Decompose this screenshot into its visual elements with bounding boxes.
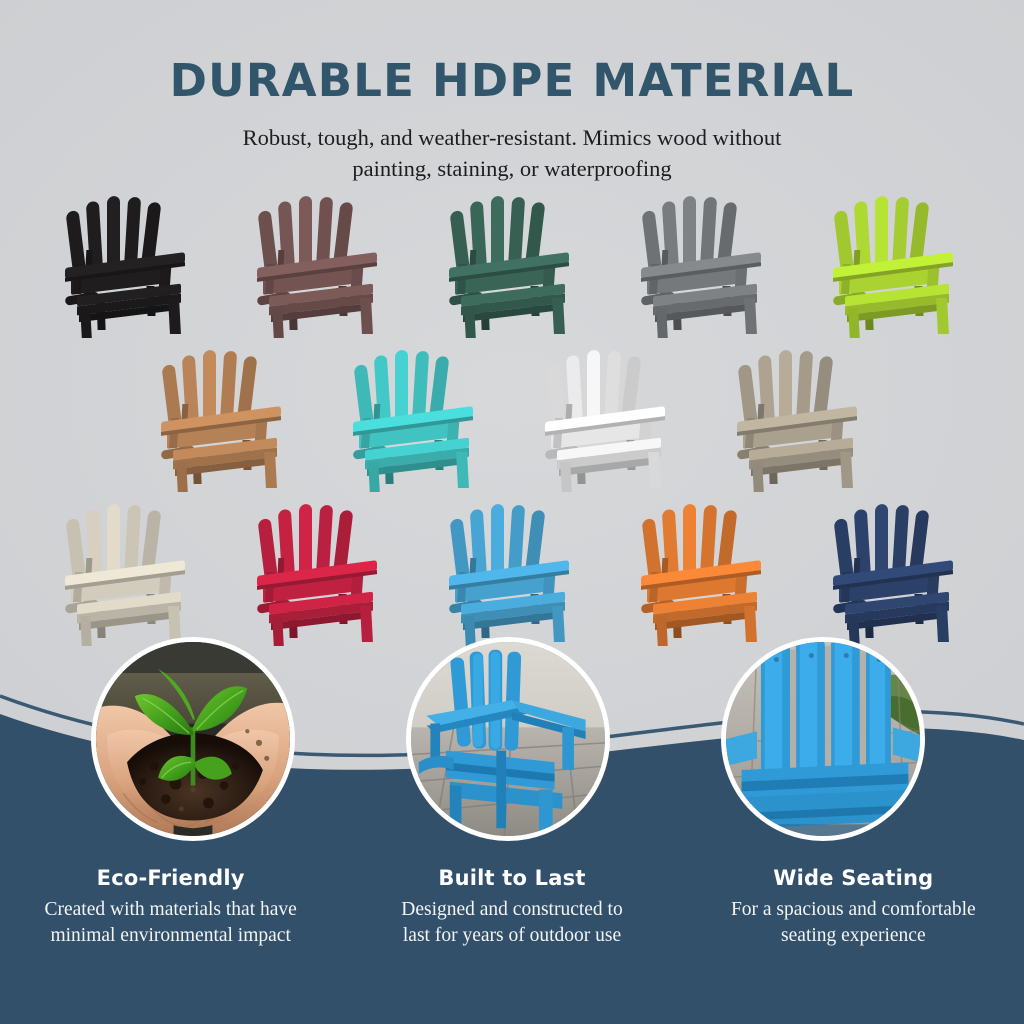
feature-built-to-last: Built to Last Designed and constructed t…	[341, 866, 682, 949]
feature-eco-friendly: Eco-Friendly Created with materials that…	[0, 866, 341, 949]
hands-holding-seedling-photo	[96, 642, 290, 836]
feature-image-wide-seating	[721, 637, 925, 841]
feature-title: Built to Last	[349, 866, 674, 890]
feature-desc-line-2: minimal environmental impact	[8, 923, 333, 949]
feature-image-built-to-last	[406, 637, 610, 841]
feature-title: Wide Seating	[691, 866, 1016, 890]
blue-chair-wide-seat-closeup-photo	[726, 642, 920, 836]
feature-description: Created with materials that have minimal…	[8, 897, 333, 949]
feature-desc-line-1: For a spacious and comfortable	[691, 897, 1016, 923]
feature-desc-line-2: last for years of outdoor use	[349, 923, 674, 949]
feature-image-eco-friendly	[91, 637, 295, 841]
blue-adirondack-chair-on-patio-photo	[411, 642, 605, 836]
feature-wide-seating: Wide Seating For a spacious and comforta…	[683, 866, 1024, 949]
feature-description: Designed and constructed to last for yea…	[349, 897, 674, 949]
feature-desc-line-1: Designed and constructed to	[349, 897, 674, 923]
feature-desc-line-1: Created with materials that have	[8, 897, 333, 923]
feature-desc-line-2: seating experience	[691, 923, 1016, 949]
feature-captions: Eco-Friendly Created with materials that…	[0, 866, 1024, 949]
feature-title: Eco-Friendly	[8, 866, 333, 890]
feature-description: For a spacious and comfortable seating e…	[691, 897, 1016, 949]
